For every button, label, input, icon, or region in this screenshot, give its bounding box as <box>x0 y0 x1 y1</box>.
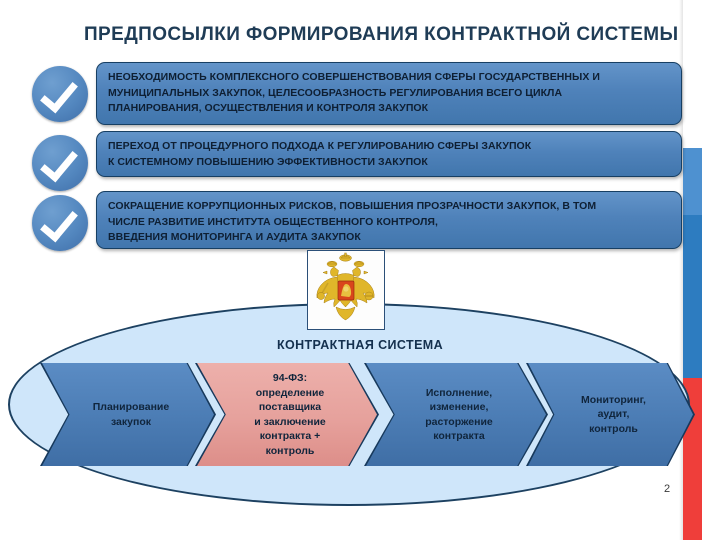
statement-line: К СИСТЕМНОМУ ПОВЫШЕНИЮ ЭФФЕКТИВНОСТИ ЗАК… <box>108 155 671 171</box>
flag-stripe-decoration <box>683 0 702 540</box>
statement-line: ЧИСЛЕ РАЗВИТИЕ ИНСТИТУТА ОБЩЕСТВЕННОГО К… <box>108 215 671 231</box>
stage-line: контроль <box>581 422 646 437</box>
contract-system-label: КОНТРАКТНАЯ СИСТЕМА <box>0 338 720 352</box>
check-circle-icon <box>32 195 88 251</box>
stage-label: 94-ФЗ: определение поставщика и заключен… <box>245 371 329 458</box>
flag-segment-light-blue <box>683 148 702 215</box>
stage-line: Исполнение, <box>425 386 493 401</box>
statement-box: НЕОБХОДИМОСТЬ КОМПЛЕКСНОГО СОВЕРШЕНСТВОВ… <box>96 62 682 125</box>
statement-line: ВВЕДЕНИЯ МОНИТОРИНГА И АУДИТА ЗАКУПОК <box>108 230 671 246</box>
statement-line: МУНИЦИПАЛЬНЫХ ЗАКУПОК, ЦЕЛЕСООБРАЗНОСТЬ … <box>108 86 671 102</box>
stage-line: и заключение <box>254 415 326 430</box>
stage-line: расторжение <box>425 415 493 430</box>
stage-line: изменение, <box>425 400 493 415</box>
check-circle-icon <box>32 135 88 191</box>
russian-coat-of-arms-icon <box>307 250 385 330</box>
page-number: 2 <box>664 483 670 495</box>
statement-box: ПЕРЕХОД ОТ ПРОЦЕДУРНОГО ПОДХОДА К РЕГУЛИ… <box>96 131 682 177</box>
stage-line: аудит, <box>581 407 646 422</box>
stage-label: Исполнение, изменение, расторжение контр… <box>416 386 496 444</box>
stage-line: определение <box>254 386 326 401</box>
statement-line: НЕОБХОДИМОСТЬ КОМПЛЕКСНОГО СОВЕРШЕНСТВОВ… <box>108 70 671 86</box>
statement-line: ПЕРЕХОД ОТ ПРОЦЕДУРНОГО ПОДХОДА К РЕГУЛИ… <box>108 139 671 155</box>
stage-line: Планирование <box>93 400 169 415</box>
check-circle-icon <box>32 66 88 122</box>
statement-line: ПЛАНИРОВАНИЯ, ОСУЩЕСТВЛЕНИЯ И КОНТРОЛЯ З… <box>108 101 671 117</box>
stage-line: контракта <box>425 429 493 444</box>
stage-line: 94-ФЗ: <box>254 371 326 386</box>
stage-line: контракта + <box>254 429 326 444</box>
stage-line: Мониторинг, <box>581 393 646 408</box>
statement-box: СОКРАЩЕНИЕ КОРРУПЦИОННЫХ РИСКОВ, ПОВЫШЕН… <box>96 191 682 249</box>
statement-line: СОКРАЩЕНИЕ КОРРУПЦИОННЫХ РИСКОВ, ПОВЫШЕН… <box>108 199 671 215</box>
stage-label: Планирование закупок <box>84 400 172 429</box>
presentation-slide: ПРЕДПОСЫЛКИ ФОРМИРОВАНИЯ КОНТРАКТНОЙ СИС… <box>0 0 720 540</box>
stage-line: поставщика <box>254 400 326 415</box>
stage-line: контроль <box>254 444 326 459</box>
flag-segment-blue <box>683 215 702 378</box>
slide-title: ПРЕДПОСЫЛКИ ФОРМИРОВАНИЯ КОНТРАКТНОЙ СИС… <box>84 24 644 46</box>
stage-line: закупок <box>93 415 169 430</box>
stage-label: Мониторинг, аудит, контроль <box>572 393 649 437</box>
flag-segment-white <box>683 0 702 148</box>
